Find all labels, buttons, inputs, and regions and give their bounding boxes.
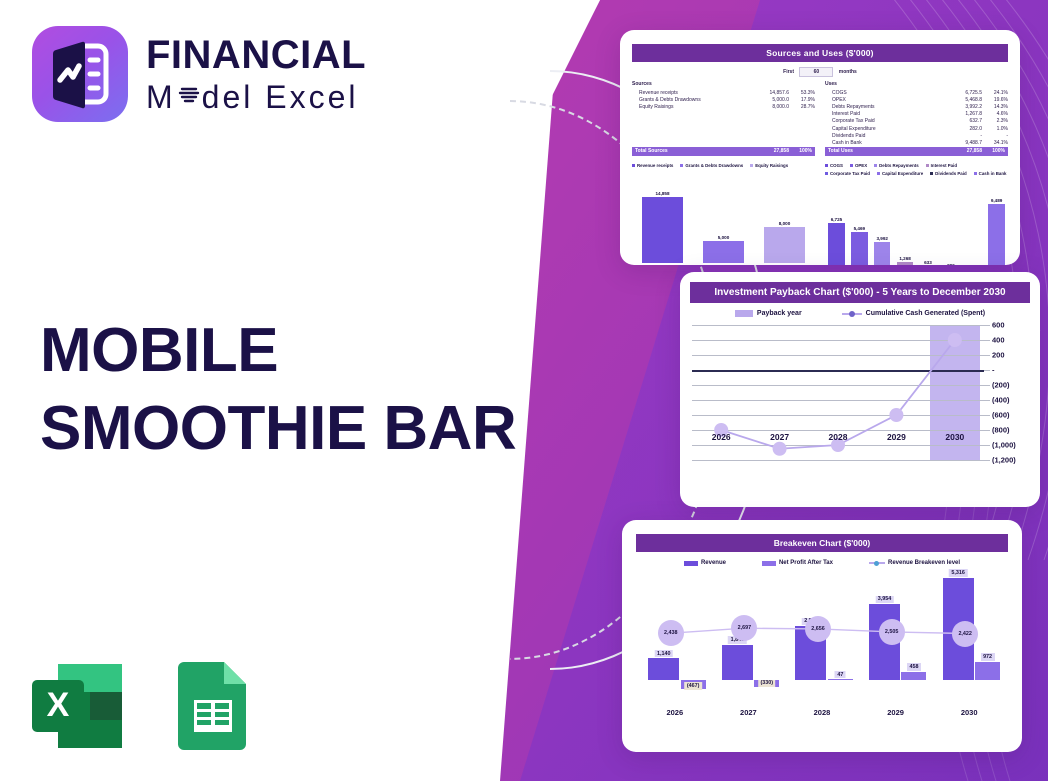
legend-item: Cash in Bank [974, 171, 1007, 176]
total-percent: 100% [982, 147, 1008, 156]
sources-header: Sources [632, 81, 815, 87]
legend-label: Corporate Tax Paid [830, 171, 870, 176]
row-label: OPEX [825, 96, 946, 103]
row-label: Interest Paid [825, 111, 946, 118]
row-value: 6,725.5 [946, 89, 982, 96]
row-label: Capital Expenditure [825, 125, 946, 132]
months-suffix-label: months [839, 69, 857, 75]
axis-tick [984, 460, 990, 461]
x-axis-label: 2029 [867, 432, 925, 442]
app-icons: X [28, 660, 268, 752]
y-axis-label: 400 [992, 336, 1005, 345]
bar [874, 242, 890, 265]
bar [851, 232, 867, 265]
row-value: 282.0 [946, 125, 982, 132]
page-title: MOBILE SMOOTHIE BAR [40, 312, 516, 467]
x-axis-label: 2026 [638, 708, 712, 717]
payback-legend: Payback year Cumulative Cash Generated (… [680, 310, 1040, 317]
legend-item: COGS [825, 163, 843, 168]
sources-uses-title: Sources and Uses ($'000) [632, 44, 1008, 62]
legend-label: Cumulative Cash Generated (Spent) [866, 310, 985, 317]
row-label: COGS [825, 89, 946, 96]
legend-swatch-icon [632, 164, 635, 167]
bar-value-label: 3,992 [876, 236, 888, 241]
bar [642, 197, 682, 262]
table-spacer-row [632, 111, 815, 118]
brand-logo: FINANCIAL M del Excel [32, 26, 366, 122]
y-axis-label: 600 [992, 321, 1005, 330]
bar-group: 14,858 [642, 183, 682, 263]
bar-group: 3,992 [874, 191, 890, 266]
breakeven-data-point: 2,438 [658, 620, 684, 646]
bar-group: 1,268 [897, 191, 913, 266]
table-row: OPEX5,468.819.6% [825, 96, 1008, 103]
legend-swatch-line-icon [869, 562, 885, 564]
bar-group: 5,000 [703, 183, 743, 263]
y-axis-label: (200) [992, 381, 1010, 390]
legend-item: Equity Raisings [750, 163, 788, 168]
bar-group: 6,725 [828, 191, 844, 266]
row-value: 8,000.0 [753, 103, 789, 110]
x-axis-label: 2026 [692, 432, 750, 442]
bar-value-label: 0 [972, 265, 975, 266]
microsoft-excel-icon: X [28, 660, 126, 752]
bar-value-label: 9,489 [991, 198, 1003, 203]
legend-label: Net Profit After Tax [779, 560, 833, 566]
row-label: Equity Raisings [632, 103, 753, 110]
x-axis-label: 2028 [785, 708, 859, 717]
logo-line-2-suffix: del Excel [202, 81, 359, 113]
legend-label: Interest Paid [931, 163, 957, 168]
legend-item: Dividends Paid [930, 171, 966, 176]
legend-label: Cash in Bank [979, 171, 1007, 176]
row-label: Cash in Bank [825, 139, 946, 146]
y-axis-label: (1,200) [992, 456, 1016, 465]
bar-group: 8,000 [764, 183, 804, 263]
row-percent: 2.3% [982, 118, 1008, 125]
breakeven-data-point: 2,505 [879, 619, 905, 645]
table-total-row: Total Sources27,858100% [632, 147, 815, 156]
svg-text:X: X [47, 686, 70, 724]
bar-value-label: 6,725 [831, 217, 843, 222]
breakeven-title: Breakeven Chart ($'000) [636, 534, 1008, 552]
data-point [773, 442, 787, 456]
y-axis-label: 200 [992, 351, 1005, 360]
payback-title: Investment Payback Chart ($'000) - 5 Yea… [690, 282, 1030, 303]
legend-label: Revenue [701, 560, 726, 566]
legend-label: Debts Repayments [879, 163, 919, 168]
breakeven-data-point: 2,697 [731, 615, 757, 641]
total-percent: 100% [789, 147, 815, 156]
uses-chart-block: COGSOPEXDebts RepaymentsInterest PaidCor… [825, 158, 1008, 266]
bar-value-label: 282 [947, 263, 955, 265]
axis-tick [984, 385, 990, 386]
legend-item-breakeven-level: Revenue Breakeven level [869, 560, 960, 566]
table-row: Dividends Paid-- [825, 132, 1008, 139]
legend-swatch-icon [926, 164, 929, 167]
breakeven-legend: Revenue Net Profit After Tax Revenue Bre… [622, 560, 1022, 566]
legend-item-npat: Net Profit After Tax [762, 560, 833, 566]
legend-item: Debts Repayments [874, 163, 919, 168]
y-axis-label: (400) [992, 396, 1010, 405]
row-value: 5,468.8 [946, 96, 982, 103]
legend-label: COGS [830, 163, 843, 168]
payback-y-axis: 600400200-(200)(400)(600)(800)(1,000)(1,… [984, 325, 1038, 460]
row-percent: - [982, 132, 1008, 139]
legend-swatch-icon [877, 172, 880, 175]
row-percent: 53.3% [789, 89, 815, 96]
bar-value-label: 8,000 [779, 221, 791, 226]
bar-group: 282 [943, 191, 959, 266]
legend-swatch-icon [825, 172, 828, 175]
legend-swatch-line-icon [842, 313, 862, 315]
table-row: Interest Paid1,267.84.6% [825, 111, 1008, 118]
breakeven-panel[interactable]: Breakeven Chart ($'000) Revenue Net Prof… [622, 520, 1022, 752]
row-percent: 4.6% [982, 111, 1008, 118]
legend-label: Payback year [757, 310, 802, 317]
axis-tick [984, 355, 990, 356]
bar-value-label: 5,000 [718, 235, 730, 240]
legend-swatch-icon [874, 164, 877, 167]
logo-line-2: M del Excel [146, 81, 366, 113]
legend-item-cumulative-cash: Cumulative Cash Generated (Spent) [842, 310, 985, 317]
legend-swatch-icon [974, 172, 977, 175]
legend-swatch-bar-icon [735, 310, 753, 317]
row-percent: 28.7% [789, 103, 815, 110]
legend-swatch-icon [850, 164, 853, 167]
sources-column: Sources Revenue receipts14,857.653.3%Gra… [632, 81, 815, 156]
legend-label: Capital Expenditure [882, 171, 923, 176]
row-label: Dividends Paid [825, 132, 946, 139]
table-row: COGS6,725.524.1% [825, 89, 1008, 96]
bar [703, 241, 743, 263]
table-row: Capital Expenditure282.01.0% [825, 125, 1008, 132]
legend-swatch-bar-icon [762, 561, 776, 566]
bar-value-label: 5,469 [854, 226, 866, 231]
logo-line-1: FINANCIAL [146, 35, 366, 75]
uses-chart-legend: COGSOPEXDebts RepaymentsInterest PaidCor… [825, 163, 1008, 176]
bar-value-label: 1,268 [899, 256, 911, 261]
legend-item: Corporate Tax Paid [825, 171, 870, 176]
legend-item: Revenue receipts [632, 163, 673, 168]
legend-swatch-bar-icon [684, 561, 698, 566]
financial-model-document-chart-icon [32, 26, 128, 122]
page-title-line-1: MOBILE [40, 312, 516, 390]
logo-line-2-prefix: M [146, 81, 176, 113]
row-percent: 1.0% [982, 125, 1008, 132]
row-percent: 24.1% [982, 89, 1008, 96]
axis-tick [984, 445, 990, 446]
row-percent: 19.6% [982, 96, 1008, 103]
bar-group: 9,489 [988, 191, 1004, 266]
table-row: Corporate Tax Paid632.72.3% [825, 118, 1008, 125]
breakeven-data-point: 2,422 [952, 621, 978, 647]
uses-table: COGS6,725.524.1%OPEX5,468.819.6%Debts Re… [825, 89, 1008, 156]
axis-tick [984, 430, 990, 431]
y-axis-label: (1,000) [992, 441, 1016, 450]
bar-group: 633 [920, 191, 936, 266]
breakeven-plot: 1,140(467)1,848(330)2,814473,9544585,316… [638, 572, 1006, 692]
table-spacer-row [632, 139, 815, 146]
row-label: Debts Repayments [825, 103, 946, 110]
legend-item: Grants & Debts Drawdowns [680, 163, 743, 168]
legend-label: Grants & Debts Drawdowns [685, 163, 743, 168]
uses-header: Uses [825, 81, 1008, 87]
table-row: Revenue receipts14,857.653.3% [632, 89, 815, 96]
legend-label: OPEX [855, 163, 867, 168]
row-value: 632.7 [946, 118, 982, 125]
x-axis-label: 2030 [932, 708, 1006, 717]
bar-value-label: 633 [924, 260, 932, 265]
months-control[interactable]: First 60 months [620, 67, 1020, 77]
uses-column: Uses COGS6,725.524.1%OPEX5,468.819.6%Deb… [825, 81, 1008, 156]
x-axis-label: 2027 [750, 432, 808, 442]
table-spacer-row [632, 125, 815, 132]
table-row: Debts Repayments3,992.214.3% [825, 103, 1008, 110]
table-total-row: Total Uses27,858100% [825, 147, 1008, 156]
legend-item-revenue: Revenue [684, 560, 726, 566]
sources-bar-chart: 14,8585,0008,000 [632, 171, 815, 263]
table-spacer-row [632, 118, 815, 125]
breakeven-data-point: 2,656 [805, 616, 831, 642]
legend-item: OPEX [850, 163, 867, 168]
legend-label: Revenue receipts [637, 163, 673, 168]
legend-swatch-icon [930, 172, 933, 175]
legend-label: Dividends Paid [935, 171, 966, 176]
months-input[interactable]: 60 [799, 67, 833, 77]
row-label: Corporate Tax Paid [825, 118, 946, 125]
google-sheets-icon [170, 660, 268, 752]
data-point [889, 408, 903, 422]
sources-table: Revenue receipts14,857.653.3%Grants & De… [632, 89, 815, 156]
investment-payback-panel[interactable]: Investment Payback Chart ($'000) - 5 Yea… [680, 272, 1040, 507]
axis-tick [984, 400, 990, 401]
breakeven-x-axis: 20262027202820292030 [638, 708, 1006, 717]
row-value: 5,000.0 [753, 96, 789, 103]
row-value: 1,267.8 [946, 111, 982, 118]
data-point [948, 333, 962, 347]
row-value: - [946, 132, 982, 139]
months-prefix-label: First [783, 69, 794, 75]
bar [828, 223, 844, 265]
row-percent: 14.3% [982, 103, 1008, 110]
total-label: Total Sources [632, 147, 753, 156]
legend-item: Capital Expenditure [877, 171, 923, 176]
table-row: Equity Raisings8,000.028.7% [632, 103, 815, 110]
bars-glyph-o-icon [178, 81, 200, 113]
row-value: 3,992.2 [946, 103, 982, 110]
table-spacer-row [632, 132, 815, 139]
total-value: 27,858 [946, 147, 982, 156]
x-axis-label: 2027 [712, 708, 786, 717]
page-title-line-2: SMOOTHIE BAR [40, 390, 516, 468]
payback-x-axis: 20262027202820292030 [692, 432, 984, 442]
row-label: Grants & Debts Drawdowns [632, 96, 753, 103]
axis-tick [984, 340, 990, 341]
bar-group: 5,469 [851, 191, 867, 266]
row-value: 9,488.7 [946, 139, 982, 146]
row-percent: 34.1% [982, 139, 1008, 146]
bar-group: 0 [965, 191, 981, 266]
axis-tick [984, 415, 990, 416]
bar [764, 227, 804, 262]
x-axis-label: 2028 [809, 432, 867, 442]
axis-tick [984, 325, 990, 326]
sources-chart-legend: Revenue receiptsGrants & Debts Drawdowns… [632, 163, 815, 168]
row-value: 14,857.6 [753, 89, 789, 96]
bar-value-label: 14,858 [655, 191, 669, 196]
y-axis-label: (600) [992, 411, 1010, 420]
legend-swatch-icon [750, 164, 753, 167]
gridline [692, 460, 984, 461]
legend-item-payback-year: Payback year [735, 310, 802, 317]
row-label: Revenue receipts [632, 89, 753, 96]
legend-label: Equity Raisings [755, 163, 788, 168]
legend-label: Revenue Breakeven level [888, 560, 960, 566]
axis-tick [984, 370, 990, 371]
legend-item: Interest Paid [926, 163, 957, 168]
sources-uses-panel[interactable]: Sources and Uses ($'000) First 60 months… [620, 30, 1020, 265]
y-axis-label: (800) [992, 426, 1010, 435]
bar [897, 262, 913, 265]
row-percent: 17.9% [789, 96, 815, 103]
sources-chart-block: Revenue receiptsGrants & Debts Drawdowns… [632, 158, 815, 266]
total-label: Total Uses [825, 147, 946, 156]
x-axis-label: 2029 [859, 708, 933, 717]
uses-bar-chart: 6,7255,4693,9921,26863328209,489 [825, 179, 1008, 266]
legend-swatch-icon [825, 164, 828, 167]
table-row: Grants & Debts Drawdowns5,000.017.9% [632, 96, 815, 103]
legend-swatch-icon [680, 164, 683, 167]
bar [988, 204, 1004, 265]
y-axis-label: - [992, 366, 995, 375]
total-value: 27,858 [753, 147, 789, 156]
table-row: Cash in Bank9,488.734.1% [825, 139, 1008, 146]
x-axis-label: 2030 [926, 432, 984, 442]
